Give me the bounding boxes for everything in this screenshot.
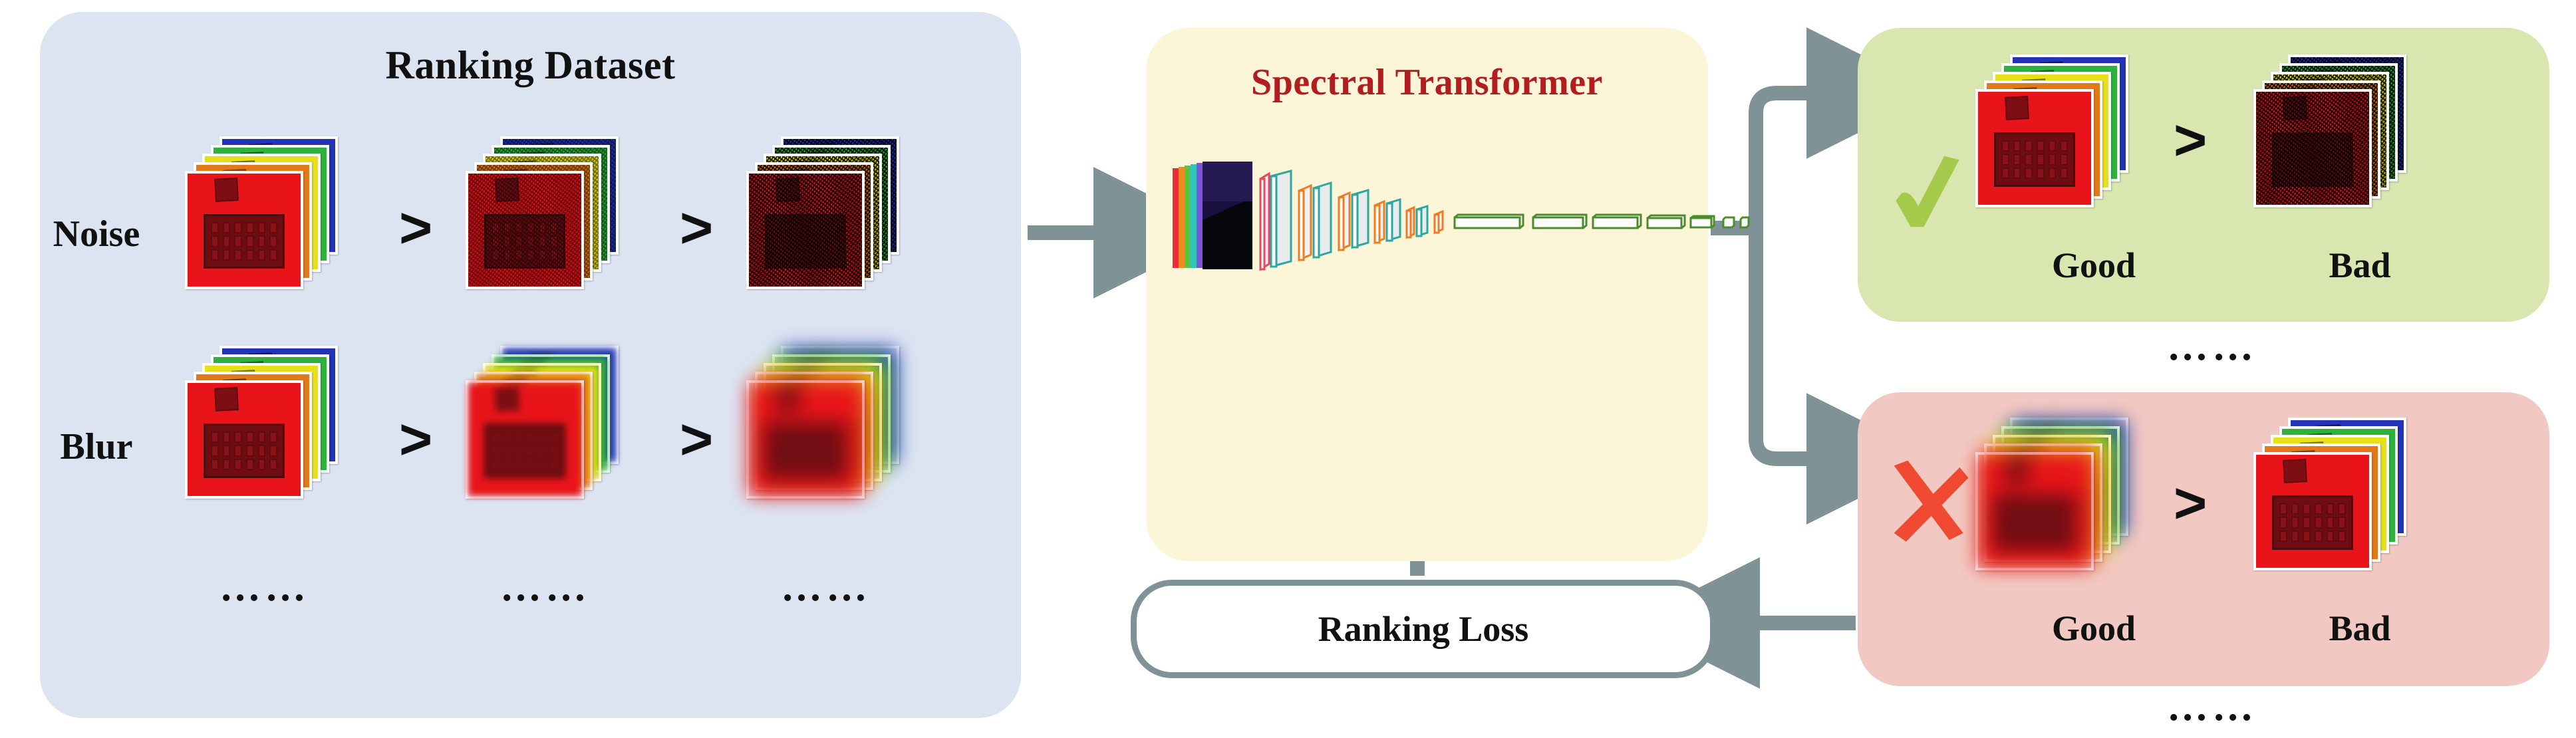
result-cube-good-clean[interactable] [1975, 55, 2128, 207]
diagram-canvas: Ranking Dataset Noise Blur > > > [0, 0, 2576, 738]
correct-ranking-ellipsis: …… [2167, 326, 2257, 367]
dataset-ellipsis-1: …… [219, 566, 310, 608]
caption-good-incorrect: Good [1994, 608, 2194, 649]
row-label-noise: Noise [20, 213, 173, 255]
conv-block-10 [1417, 206, 1427, 236]
caption-good-correct: Good [1994, 245, 2194, 286]
conv-block-2 [1271, 171, 1291, 267]
result-cube-bad-noise[interactable] [2253, 55, 2406, 207]
fc-bar-6 [1723, 217, 1734, 227]
spectral-transformer-panel: Spectral Transformer [1146, 28, 1708, 561]
conv-block-5 [1339, 193, 1350, 250]
dataset-ellipsis-2: …… [500, 566, 591, 608]
fc-bar-4 [1647, 215, 1685, 228]
incorrect-ranking-ellipsis: …… [2167, 686, 2257, 727]
dataset-cube-noise-clean[interactable] [185, 136, 338, 289]
row-label-blur: Blur [20, 426, 173, 468]
dataset-cube-noise-high[interactable] [746, 136, 899, 289]
conv-block-6 [1352, 190, 1368, 247]
dataset-separator-noise-2: > [680, 199, 713, 257]
check-icon [1881, 154, 1974, 247]
caption-bad-incorrect: Bad [2260, 608, 2460, 649]
result-separator-incorrect: > [2174, 475, 2207, 532]
model-title: Spectral Transformer [1146, 61, 1708, 104]
network-input-cube [1173, 162, 1252, 269]
dataset-title: Ranking Dataset [40, 43, 1021, 88]
conv-block-8 [1387, 199, 1400, 241]
result-cube-bad-clean[interactable] [2253, 418, 2406, 570]
result-separator-correct: > [2174, 112, 2207, 169]
conv-block-4 [1314, 183, 1331, 257]
cross-icon [1884, 459, 1970, 545]
conv-block-1 [1260, 174, 1269, 269]
fc-layer-group [1455, 215, 1749, 228]
ranking-loss-label: Ranking Loss [1318, 608, 1529, 650]
dataset-cube-noise-low[interactable] [466, 136, 619, 289]
conv-block-7 [1375, 201, 1384, 243]
conv-block-3 [1299, 185, 1311, 260]
conv-block-9 [1407, 207, 1414, 237]
dataset-cube-blur-low[interactable] [466, 346, 619, 499]
arrow-model-split [1711, 93, 1837, 459]
dataset-cube-blur-clean[interactable] [185, 346, 338, 499]
fc-bar-7 [1741, 217, 1749, 227]
result-cube-good-blur[interactable] [1975, 418, 2128, 570]
dataset-cube-blur-high[interactable] [746, 346, 899, 499]
conv-block-11 [1435, 211, 1443, 233]
dataset-separator-blur-2: > [680, 411, 713, 468]
fc-bar-3 [1593, 215, 1641, 228]
dataset-ellipsis-3: …… [781, 566, 871, 608]
caption-bad-correct: Bad [2260, 245, 2460, 286]
ranking-loss-box[interactable]: Ranking Loss [1131, 580, 1716, 678]
fc-bar-2 [1533, 215, 1586, 228]
dataset-separator-blur-1: > [399, 411, 432, 468]
fc-bar-5 [1691, 216, 1714, 227]
fc-bar-1 [1455, 215, 1523, 228]
cnn-architecture-graphic [1161, 156, 1706, 283]
dataset-separator-noise-1: > [399, 199, 432, 257]
